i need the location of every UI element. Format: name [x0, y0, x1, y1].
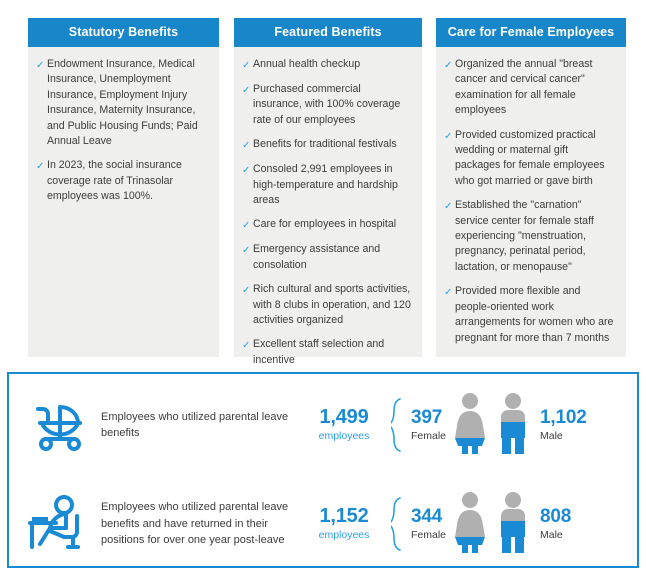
stat-label: Employees who utilized parental leave be…: [101, 499, 301, 549]
stat-total-group: 1,499 employees: [301, 406, 387, 444]
female-count-block: 397 Female: [409, 407, 448, 444]
stat-total-group: 1,152 employees: [301, 505, 387, 543]
female-figure-icon: [450, 491, 490, 558]
list-item: ✓ Annual health checkup: [242, 57, 412, 73]
infographic-root: Statutory Benefits ✓ Endowment Insurance…: [0, 0, 646, 573]
female-label: Female: [411, 528, 446, 543]
list-item-text: Annual health checkup: [253, 57, 412, 72]
desk-worker-icon: [9, 495, 101, 553]
male-label: Male: [540, 528, 571, 543]
list-item: ✓ Purchased commercial insurance, with 1…: [242, 82, 412, 128]
list-item: ✓ Provided more flexible and people-orie…: [444, 284, 616, 346]
list-item-text: Excellent staff selection and incentive: [253, 337, 412, 368]
check-icon: ✓: [242, 138, 253, 153]
stat-row: Employees who utilized parental leave be…: [9, 378, 637, 472]
list-item: ✓ Emergency assistance and consolation: [242, 242, 412, 273]
list-item: ✓ Benefits for traditional festivals: [242, 137, 412, 153]
stat-total-number: 1,152: [301, 505, 387, 527]
list-item-text: Purchased commercial insurance, with 100…: [253, 82, 412, 128]
check-icon: ✓: [36, 159, 47, 174]
female-count: 344: [411, 506, 446, 527]
card-body-featured: ✓ Annual health checkup ✓ Purchased comm…: [234, 47, 422, 357]
stat-row: Employees who utilized parental leave be…: [9, 477, 637, 571]
gender-split-group: 397 Female: [409, 392, 589, 459]
benefit-card-featured: Featured Benefits ✓ Annual health checku…: [234, 18, 422, 357]
list-item-text: Organized the annual "breast cancer and …: [455, 57, 616, 119]
card-body-statutory: ✓ Endowment Insurance, Medical Insurance…: [28, 47, 219, 357]
male-label: Male: [540, 429, 587, 444]
list-item-text: Consoled 2,991 employees in high-tempera…: [253, 162, 412, 208]
female-count-block: 344 Female: [409, 506, 448, 543]
list-item-text: Provided more flexible and people-orient…: [455, 284, 616, 346]
male-count-block: 1,102 Male: [538, 407, 589, 444]
list-item: ✓ Excellent staff selection and incentiv…: [242, 337, 412, 368]
card-title-featured: Featured Benefits: [234, 18, 422, 47]
benefit-cards-row: Statutory Benefits ✓ Endowment Insurance…: [0, 0, 646, 368]
list-item-text: Provided customized practical wedding or…: [455, 128, 616, 190]
male-count: 808: [540, 506, 571, 527]
stat-total-number: 1,499: [301, 406, 387, 428]
list-item: ✓ Rich cultural and sports activities, w…: [242, 282, 412, 328]
list-item: ✓ Organized the annual "breast cancer an…: [444, 57, 616, 119]
stat-figures: 1,152 employees 344 Female: [301, 491, 637, 558]
card-title-female-care: Care for Female Employees: [436, 18, 626, 47]
list-item-text: Care for employees in hospital: [253, 217, 412, 232]
female-figure-icon: [450, 392, 490, 459]
benefit-card-female-care: Care for Female Employees ✓ Organized th…: [436, 18, 626, 357]
stat-figures: 1,499 employees 397 Female: [301, 392, 637, 459]
stat-total-unit: employees: [301, 429, 387, 444]
list-item-text: Established the "carnation" service cent…: [455, 198, 616, 275]
check-icon: ✓: [242, 243, 253, 258]
list-item: ✓ Consoled 2,991 employees in high-tempe…: [242, 162, 412, 208]
benefit-card-statutory: Statutory Benefits ✓ Endowment Insurance…: [28, 18, 219, 357]
list-item: ✓ Care for employees in hospital: [242, 217, 412, 233]
stat-label: Employees who utilized parental leave be…: [101, 409, 301, 442]
gender-split-group: 344 Female: [409, 491, 573, 558]
male-figure-icon: [494, 491, 532, 558]
stat-total-unit: employees: [301, 528, 387, 543]
list-item-text: Emergency assistance and consolation: [253, 242, 412, 273]
check-icon: ✓: [242, 283, 253, 298]
card-title-statutory: Statutory Benefits: [28, 18, 219, 47]
check-icon: ✓: [444, 285, 455, 300]
check-icon: ✓: [444, 58, 455, 73]
check-icon: ✓: [444, 199, 455, 214]
brace-divider: [391, 397, 407, 453]
check-icon: ✓: [242, 163, 253, 178]
male-count: 1,102: [540, 407, 587, 428]
male-count-block: 808 Male: [538, 506, 573, 543]
check-icon: ✓: [242, 83, 253, 98]
list-item-text: Rich cultural and sports activities, wit…: [253, 282, 412, 328]
list-item-text: Endowment Insurance, Medical Insurance, …: [47, 57, 209, 149]
baby-carriage-icon: [9, 399, 101, 451]
check-icon: ✓: [242, 338, 253, 353]
female-label: Female: [411, 429, 446, 444]
list-item: ✓ In 2023, the social insurance coverage…: [36, 158, 209, 204]
check-icon: ✓: [242, 58, 253, 73]
check-icon: ✓: [242, 218, 253, 233]
list-item: ✓ Endowment Insurance, Medical Insurance…: [36, 57, 209, 149]
check-icon: ✓: [36, 58, 47, 73]
list-item: ✓ Established the "carnation" service ce…: [444, 198, 616, 275]
list-item: ✓ Provided customized practical wedding …: [444, 128, 616, 190]
list-item-text: Benefits for traditional festivals: [253, 137, 412, 152]
card-body-female-care: ✓ Organized the annual "breast cancer an…: [436, 47, 626, 357]
brace-divider: [391, 496, 407, 552]
parental-leave-stats-panel: Employees who utilized parental leave be…: [7, 372, 639, 568]
male-figure-icon: [494, 392, 532, 459]
check-icon: ✓: [444, 129, 455, 144]
list-item-text: In 2023, the social insurance coverage r…: [47, 158, 209, 204]
female-count: 397: [411, 407, 446, 428]
